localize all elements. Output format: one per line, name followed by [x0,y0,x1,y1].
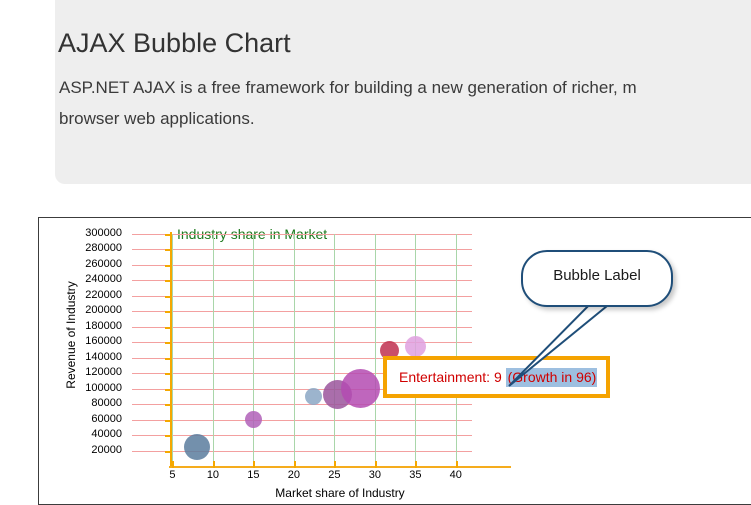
y-axis-tick [165,342,172,344]
page-description: ASP.NET AJAX is a free framework for bui… [59,72,751,134]
y-axis-tick-label: 100000 [38,382,122,394]
y-axis-tick-label: 60000 [38,413,122,425]
y-axis-tick [165,280,172,282]
chart-gridline-horizontal [132,327,472,328]
chart-gridline-vertical [253,234,254,466]
y-axis-tick [165,234,172,236]
x-axis-tick-label: 35 [400,469,430,481]
chart-bubble[interactable] [405,336,426,357]
y-axis-tick-label: 260000 [38,258,122,270]
chart-gridline-horizontal [132,249,472,250]
chart-bubble[interactable] [245,411,262,428]
x-axis-tick [294,461,296,468]
bubble-label-callout[interactable]: Bubble Label [521,250,673,307]
x-axis-title: Market share of Industry [169,486,511,500]
y-axis-tick [165,358,172,360]
x-axis-tick [213,461,215,468]
chart-gridline-vertical [375,234,376,466]
x-axis-tick [172,461,174,468]
page-description-line-2: browser web applications. [59,103,751,134]
y-axis-tick-label: 160000 [38,335,122,347]
chart-gridline-vertical [294,234,295,466]
y-axis-tick [165,435,172,437]
chart-gridline-horizontal [132,311,472,312]
page-description-line-1: ASP.NET AJAX is a free framework for bui… [59,72,751,103]
y-axis-tick [165,265,172,267]
y-axis-tick [165,404,172,406]
chart-gridline-horizontal [132,451,472,452]
y-axis-tick [165,327,172,329]
x-axis-tick-label: 10 [198,469,228,481]
y-axis-tick-label: 200000 [38,304,122,316]
x-axis-tick [415,461,417,468]
x-axis-tick-label: 40 [441,469,471,481]
chart-gridline-vertical [213,234,214,466]
y-axis-tick [165,451,172,453]
y-axis-tick [165,311,172,313]
y-axis-tick [165,420,172,422]
chart-gridline-horizontal [132,435,472,436]
tooltip-text: Entertainment: 9 (Growth in 96) [399,369,597,385]
chart-gridline-horizontal [132,404,472,405]
x-axis-tick [253,461,255,468]
chart-gridline-vertical [456,234,457,466]
x-axis-tick [375,461,377,468]
y-axis-tick-label: 280000 [38,242,122,254]
tooltip-prefix: Entertainment: 9 [399,369,502,385]
y-axis-tick-label: 300000 [38,227,122,239]
app-page: AJAX Bubble Chart ASP.NET AJAX is a free… [0,0,751,505]
callout-label: Bubble Label [523,267,671,284]
bubble-tooltip[interactable]: Entertainment: 9 (Growth in 96) [383,356,610,398]
y-axis-tick-label: 80000 [38,397,122,409]
x-axis-tick-label: 20 [279,469,309,481]
x-axis-tick-label: 25 [319,469,349,481]
chart-gridline-horizontal [132,296,472,297]
y-axis-tick-label: 180000 [38,320,122,332]
y-axis-tick [165,389,172,391]
chart-gridline-vertical [334,234,335,466]
y-axis-tick-label: 240000 [38,273,122,285]
chart-gridline-horizontal [132,420,472,421]
chart-gridline-horizontal [132,234,472,235]
chart-gridline-vertical [172,234,173,466]
x-axis-tick-label: 5 [157,469,187,481]
y-axis-tick [165,296,172,298]
chart-bubble[interactable] [341,369,380,408]
y-axis-tick-label: 220000 [38,289,122,301]
x-axis-tick-label: 30 [360,469,390,481]
chart-bubble[interactable] [305,388,322,405]
page-title: AJAX Bubble Chart [58,28,291,59]
y-axis-tick [165,373,172,375]
chart-gridline-horizontal [132,280,472,281]
tooltip-selected-text: (Growth in 96) [506,368,598,387]
x-axis-line [169,466,511,468]
y-axis-tick [165,249,172,251]
y-axis-tick-label: 140000 [38,351,122,363]
y-axis-line [170,232,172,468]
x-axis-tick [456,461,458,468]
x-axis-tick [334,461,336,468]
y-axis-tick-label: 40000 [38,428,122,440]
chart-gridline-horizontal [132,265,472,266]
x-axis-tick-label: 15 [238,469,268,481]
chart-bubble[interactable] [184,434,210,460]
y-axis-tick-label: 20000 [38,444,122,456]
y-axis-tick-label: 120000 [38,366,122,378]
